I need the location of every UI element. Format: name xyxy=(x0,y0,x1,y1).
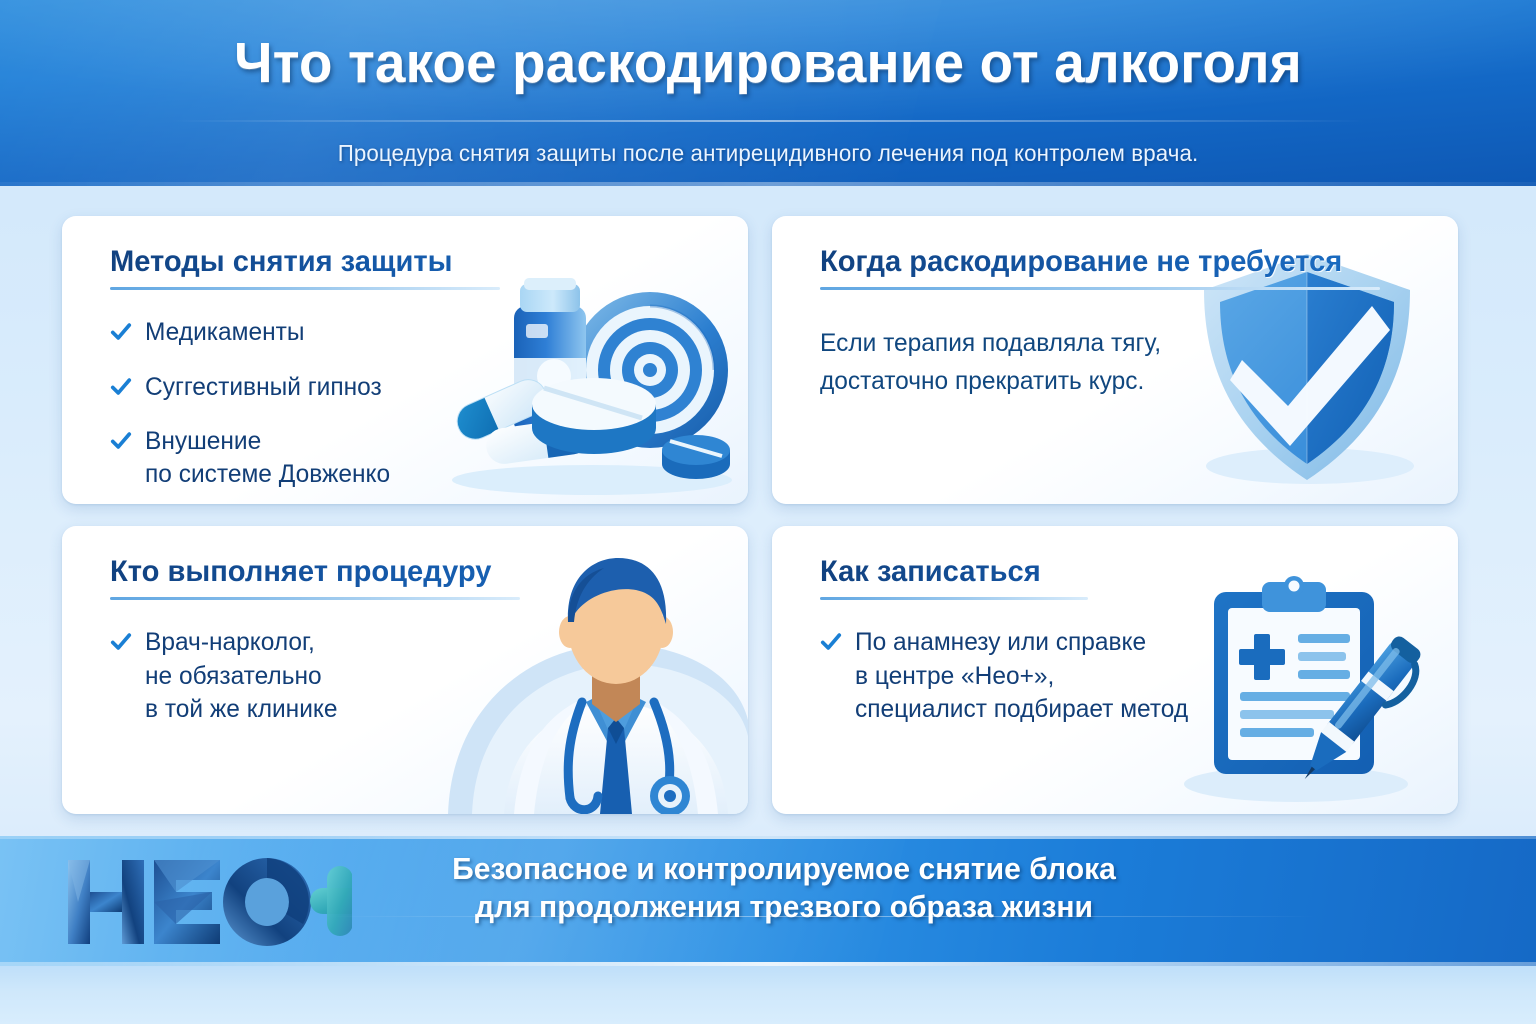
card-who-performs: Кто выполняет процедуру Врач-нарколог, н… xyxy=(62,526,748,814)
list-item-line: не обязательно xyxy=(145,660,338,693)
page-subtitle: Процедура снятия защиты после антирециди… xyxy=(23,140,1513,167)
card-title: Как записаться xyxy=(820,556,1406,588)
card-paragraph: Если терапия подавляла тягу, достаточно … xyxy=(820,324,1412,400)
check-icon xyxy=(110,631,132,653)
list-item-text: Внушение по системе Довженко xyxy=(145,425,390,492)
bullet-list: По анамнезу или справке в центре «Нео+»,… xyxy=(820,626,1424,726)
check-icon xyxy=(110,430,132,452)
logo-letter-n xyxy=(68,860,144,944)
list-item-text: Суггестивный гипноз xyxy=(145,371,382,404)
list-item: По анамнезу или справке в центре «Нео+»,… xyxy=(820,626,1424,726)
bullet-list: Врач-нарколог, не обязательно в той же к… xyxy=(110,626,714,726)
list-item-line: в центре «Нео+», xyxy=(855,660,1188,693)
card-title-underline xyxy=(110,287,500,290)
list-item-line: Суггестивный гипноз xyxy=(145,373,382,401)
list-item-text: Врач-нарколог, не обязательно в той же к… xyxy=(145,626,338,726)
footer-tagline-line: Безопасное и контролируемое снятие блока xyxy=(365,850,1203,888)
footer-tagline-line: для продолжения трезвого образа жизни xyxy=(365,888,1203,926)
paragraph-line: Если терапия подавляла тягу, xyxy=(820,329,1161,357)
footer-banner: Безопасное и контролируемое снятие блока… xyxy=(0,836,1536,966)
list-item-text: Медикаменты xyxy=(145,316,304,349)
paragraph-line: достаточно прекратить курс. xyxy=(820,362,1412,400)
card-title-underline xyxy=(820,597,1088,600)
list-item-line: специалист подбирает метод xyxy=(855,693,1188,726)
card-title-underline xyxy=(820,287,1380,290)
list-item-line: Медикаменты xyxy=(145,318,304,346)
card-title-underline xyxy=(110,597,520,600)
card-how-to-book: Как записаться По анамнезу или справке в… xyxy=(772,526,1458,814)
card-title: Методы снятия защиты xyxy=(110,246,696,278)
check-icon xyxy=(820,631,842,653)
infographic-poster: Что такое раскодирование от алкоголя Про… xyxy=(0,0,1536,1024)
footer-divider xyxy=(330,916,1316,917)
card-title: Кто выполняет процедуру xyxy=(110,556,696,588)
cards-grid: Методы снятия защиты Медикаменты xyxy=(62,216,1474,806)
logo-plus-icon xyxy=(310,866,352,936)
title-divider xyxy=(170,120,1366,122)
check-icon xyxy=(110,376,132,398)
list-item-line: Внушение xyxy=(145,427,261,455)
card-not-required: Когда раскодирование не требуется Если т… xyxy=(772,216,1458,504)
card-methods: Методы снятия защиты Медикаменты xyxy=(62,216,748,504)
neo-plus-logo xyxy=(62,852,352,952)
list-item-line: по системе Довженко xyxy=(145,458,390,491)
logo-letter-o xyxy=(223,858,311,946)
header-banner: Что такое раскодирование от алкоголя Про… xyxy=(0,0,1536,186)
bullet-list: Медикаменты Суггестивный гипноз xyxy=(110,316,714,491)
list-item: Медикаменты xyxy=(110,316,714,349)
bottom-strip xyxy=(0,966,1536,1024)
list-item: Суггестивный гипноз xyxy=(110,371,714,404)
list-item: Внушение по системе Довженко xyxy=(110,425,714,492)
list-item-line: Врач-нарколог, xyxy=(145,628,315,656)
list-item-text: По анамнезу или справке в центре «Нео+»,… xyxy=(855,626,1188,726)
list-item-line: По анамнезу или справке xyxy=(855,628,1146,656)
list-item: Врач-нарколог, не обязательно в той же к… xyxy=(110,626,714,726)
list-item-line: в той же клинике xyxy=(145,693,338,726)
page-title: Что такое раскодирование от алкоголя xyxy=(31,30,1506,96)
logo-letter-e xyxy=(154,860,220,944)
card-title: Когда раскодирование не требуется xyxy=(820,246,1406,278)
check-icon xyxy=(110,321,132,343)
